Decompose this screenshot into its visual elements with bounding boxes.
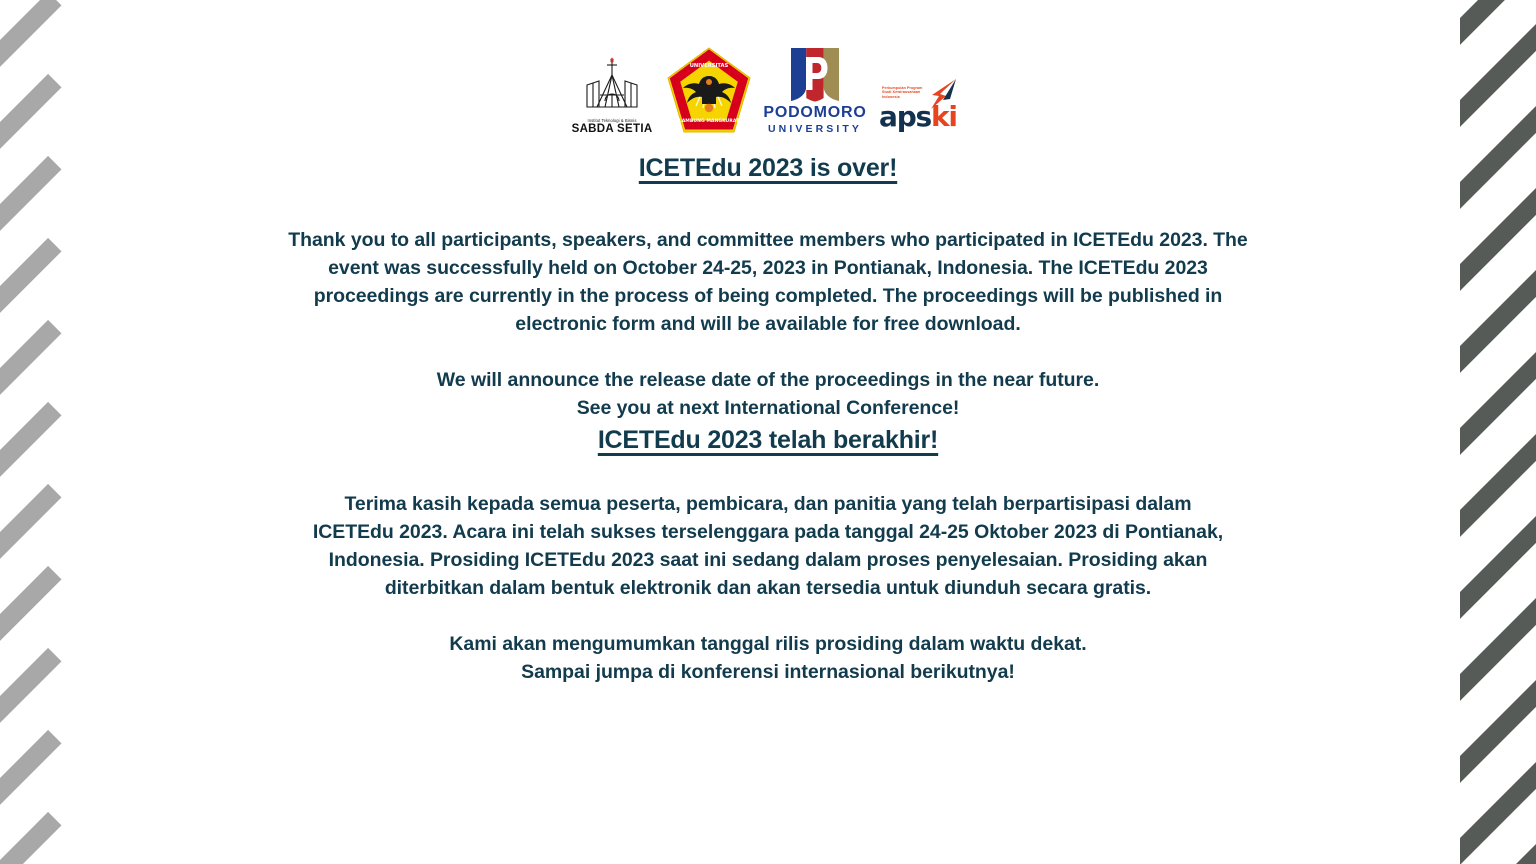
- logo-apski-wordmark-accent: ki: [931, 100, 957, 133]
- logo-sabda-setia-name: SABDA SETIA: [572, 123, 653, 136]
- logo-podomoro-name: PODOMORO: [763, 104, 866, 122]
- indonesian-paragraph-2-line-1: Kami akan mengumumkan tanggal rilis pros…: [288, 630, 1248, 658]
- logo-sabda-setia: Institut Teknologi & Bisnis SABDA SETIA: [573, 55, 651, 136]
- announcement-page: Institut Teknologi & Bisnis SABDA SETIA: [0, 0, 1536, 864]
- english-paragraph-2-line-1: We will announce the release date of the…: [288, 366, 1248, 394]
- church-building-icon: [577, 55, 647, 117]
- indonesian-paragraph-2-line-2: Sampai jumpa di konferensi internasional…: [288, 658, 1248, 686]
- logo-universitas-lambung-mangkurat: UNIVERSITAS LAMBUNG MANGKURAT: [665, 46, 753, 136]
- logo-apski-tagline: Perkumpulan Program Studi Kewirausahaan …: [882, 86, 928, 99]
- logo-podomoro-subtitle: UNIVERSITY: [768, 122, 862, 136]
- logo-podomoro-university: PODOMORO UNIVERSITY: [767, 46, 863, 136]
- logo-apski-wordmark-primary: aps: [879, 100, 931, 133]
- logo-apski: Perkumpulan Program Studi Kewirausahaan …: [877, 78, 963, 136]
- podomoro-shield-icon: [789, 46, 841, 102]
- indonesian-title: ICETEdu 2023 telah berakhir!: [0, 422, 1536, 458]
- ulm-shield-icon: UNIVERSITAS LAMBUNG MANGKURAT: [666, 46, 752, 136]
- english-paragraph-2-line-2: See you at next International Conference…: [288, 394, 1248, 422]
- announcement-content: ICETEdu 2023 is over! Thank you to all p…: [0, 150, 1536, 686]
- svg-text:UNIVERSITAS: UNIVERSITAS: [690, 63, 729, 69]
- logo-apski-wordmark: apski: [879, 102, 957, 132]
- indonesian-paragraph-1: Terima kasih kepada semua peserta, pembi…: [303, 490, 1233, 602]
- svg-text:LAMBUNG MANGKURAT: LAMBUNG MANGKURAT: [679, 118, 740, 124]
- english-title: ICETEdu 2023 is over!: [0, 150, 1536, 186]
- partner-logo-row: Institut Teknologi & Bisnis SABDA SETIA: [0, 40, 1536, 136]
- english-paragraph-1: Thank you to all participants, speakers,…: [288, 226, 1248, 338]
